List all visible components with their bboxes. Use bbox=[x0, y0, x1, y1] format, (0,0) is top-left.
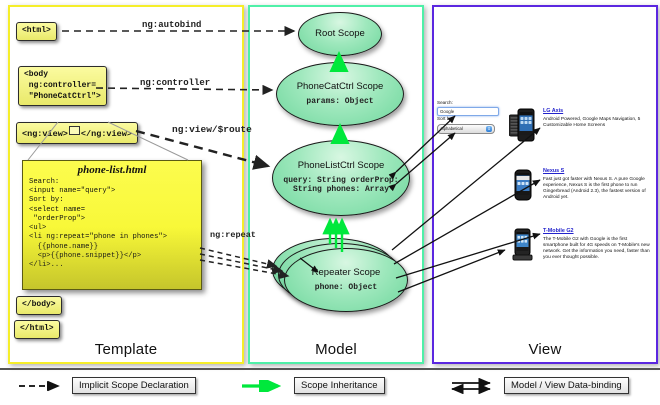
legend: Implicit Scope Declaration Scope Inherit… bbox=[0, 368, 660, 405]
legend-label-databinding: Model / View Data-binding bbox=[504, 377, 629, 394]
phone-name-link[interactable]: LG Axis bbox=[543, 108, 651, 115]
partial-phone-list-html: phone-list.html Search: <input name="que… bbox=[22, 160, 202, 290]
sort-label: Sort by: bbox=[437, 116, 499, 123]
legend-label-inheritance: Scope Inheritance bbox=[294, 377, 385, 394]
edge-label-route: ng:view/$route bbox=[172, 124, 252, 135]
tag-html-close: </html> bbox=[14, 320, 60, 339]
legend-icon-double-arrow bbox=[450, 378, 498, 394]
column-label-view: View bbox=[434, 341, 656, 358]
edge-label-autobind: ng:autobind bbox=[142, 20, 201, 30]
scope-phonelistctrl: PhoneListCtrl Scope query: String orderP… bbox=[272, 140, 410, 216]
scope-phonelistctrl-props: query: String orderProp: String phones: … bbox=[273, 176, 409, 195]
scope-phonecatctrl-props: params: Object bbox=[306, 97, 373, 107]
phone-thumbnail-t-mobile-g2 bbox=[509, 228, 535, 267]
ngview-slot-icon bbox=[69, 126, 80, 135]
scope-phonelistctrl-name: PhoneListCtrl Scope bbox=[298, 161, 385, 172]
search-form: Search: Google Sort by: Alphabetical ⇕ bbox=[437, 100, 499, 134]
edge-label-repeat: ng:repeat bbox=[210, 230, 256, 240]
column-label-model: Model bbox=[250, 341, 422, 358]
legend-icon-dashed-arrow bbox=[18, 380, 66, 392]
scope-phonecatctrl: PhoneCatCtrl Scope params: Object bbox=[276, 62, 404, 126]
legend-divider bbox=[0, 368, 660, 370]
edge-label-controller: ng:controller bbox=[140, 78, 210, 88]
phone-info: LG Axis Android Powered, Google Maps Nav… bbox=[539, 108, 651, 147]
phone-thumbnail-lg-axis bbox=[509, 108, 535, 147]
chevron-down-icon: ⇕ bbox=[486, 126, 492, 132]
phone-name-link[interactable]: Nexus S bbox=[543, 168, 651, 175]
diagram-canvas: Template Model View <html> <body ng:cont… bbox=[0, 0, 660, 405]
legend-icon-green-arrow bbox=[240, 380, 288, 392]
sort-select[interactable]: Alphabetical ⇕ bbox=[437, 124, 495, 134]
phone-snippet: Fast just got faster with Nexus S. A pur… bbox=[543, 177, 651, 201]
phone-snippet: Android Powered, Google Maps Navigation,… bbox=[543, 117, 651, 129]
phone-snippet: The T-Mobile G2 with Google is the first… bbox=[543, 237, 651, 261]
partial-title: phone-list.html bbox=[23, 161, 201, 178]
tag-body-close: </body> bbox=[16, 296, 62, 315]
search-label: Search: bbox=[437, 100, 499, 107]
phone-name-link[interactable]: T-Mobile G2 bbox=[543, 228, 651, 235]
column-label-template: Template bbox=[10, 341, 242, 358]
phone-list-item: T-Mobile G2 The T-Mobile G2 with Google … bbox=[509, 228, 651, 267]
scope-repeater-props: phone: Object bbox=[315, 283, 377, 293]
phone-thumbnail-nexus-s bbox=[509, 168, 535, 207]
scope-repeater-name: Repeater Scope bbox=[312, 268, 381, 279]
tag-ngview-open: <ng:view> bbox=[22, 129, 68, 139]
tag-ngview-close: </ng:view> bbox=[81, 129, 132, 139]
search-input[interactable]: Google bbox=[437, 107, 499, 116]
scope-root: Root Scope bbox=[298, 12, 382, 56]
legend-item-databinding: Model / View Data-binding bbox=[450, 377, 629, 394]
tag-html-open: <html> bbox=[16, 22, 57, 41]
legend-item-inheritance: Scope Inheritance bbox=[240, 377, 385, 394]
scope-repeater: Repeater Scope phone: Object bbox=[284, 248, 408, 312]
phone-list-item: Nexus S Fast just got faster with Nexus … bbox=[509, 168, 651, 207]
phone-list-item: LG Axis Android Powered, Google Maps Nav… bbox=[509, 108, 651, 147]
sort-select-value: Alphabetical bbox=[440, 126, 463, 131]
phone-info: Nexus S Fast just got faster with Nexus … bbox=[539, 168, 651, 207]
partial-code: Search: <input name="query"> Sort by: <s… bbox=[23, 178, 201, 270]
tag-body-open: <body ng:controller= "PhoneCatCtrl"> bbox=[18, 66, 107, 106]
legend-item-implicit: Implicit Scope Declaration bbox=[18, 377, 196, 394]
legend-label-implicit: Implicit Scope Declaration bbox=[72, 377, 196, 394]
tag-ngview: <ng:view></ng:view> bbox=[16, 122, 138, 144]
phone-info: T-Mobile G2 The T-Mobile G2 with Google … bbox=[539, 228, 651, 267]
scope-phonecatctrl-name: PhoneCatCtrl Scope bbox=[297, 82, 384, 93]
scope-root-name: Root Scope bbox=[315, 29, 365, 40]
